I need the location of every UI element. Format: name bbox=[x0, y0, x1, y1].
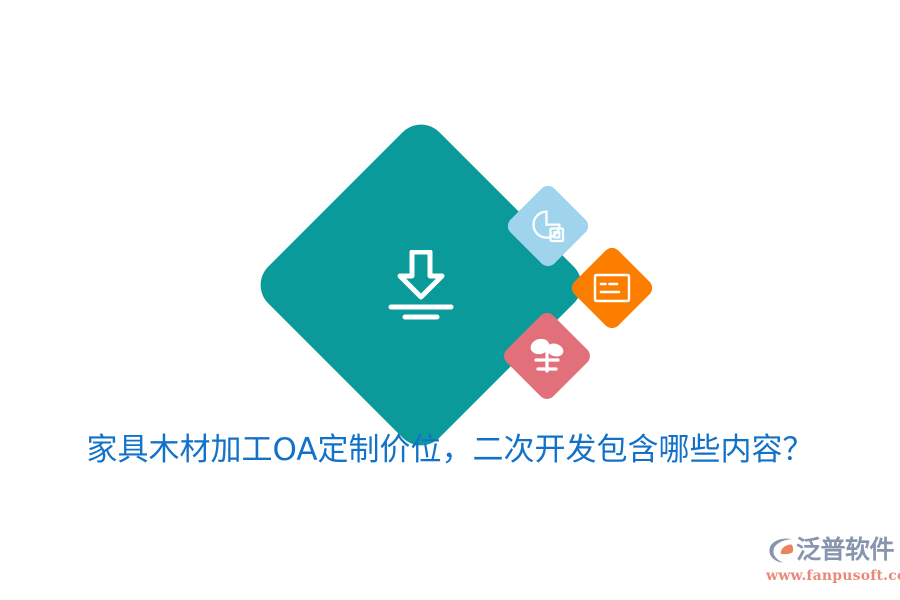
card-tile bbox=[568, 244, 656, 332]
brand-watermark: 泛普软件 www.fanpusoft.com bbox=[766, 534, 894, 586]
pie-chart-icon bbox=[531, 209, 565, 243]
hero-graphic bbox=[0, 0, 900, 600]
page-canvas: 家具木材加工OA定制价位，二次开发包含哪些内容？ 泛普软件 www.fanpus… bbox=[0, 0, 900, 600]
logo-wordmark: 泛普软件 bbox=[796, 535, 894, 565]
fanpu-swirl-icon bbox=[766, 536, 796, 564]
logo-row: 泛普软件 bbox=[766, 534, 894, 566]
page-title: 家具木材加工OA定制价位，二次开发包含哪些内容？ bbox=[0, 427, 900, 473]
logo-url: www.fanpusoft.com bbox=[766, 567, 894, 585]
sprout-icon bbox=[527, 337, 567, 375]
download-tile bbox=[250, 114, 592, 456]
download-icon bbox=[384, 250, 458, 320]
id-card-icon bbox=[593, 273, 631, 303]
